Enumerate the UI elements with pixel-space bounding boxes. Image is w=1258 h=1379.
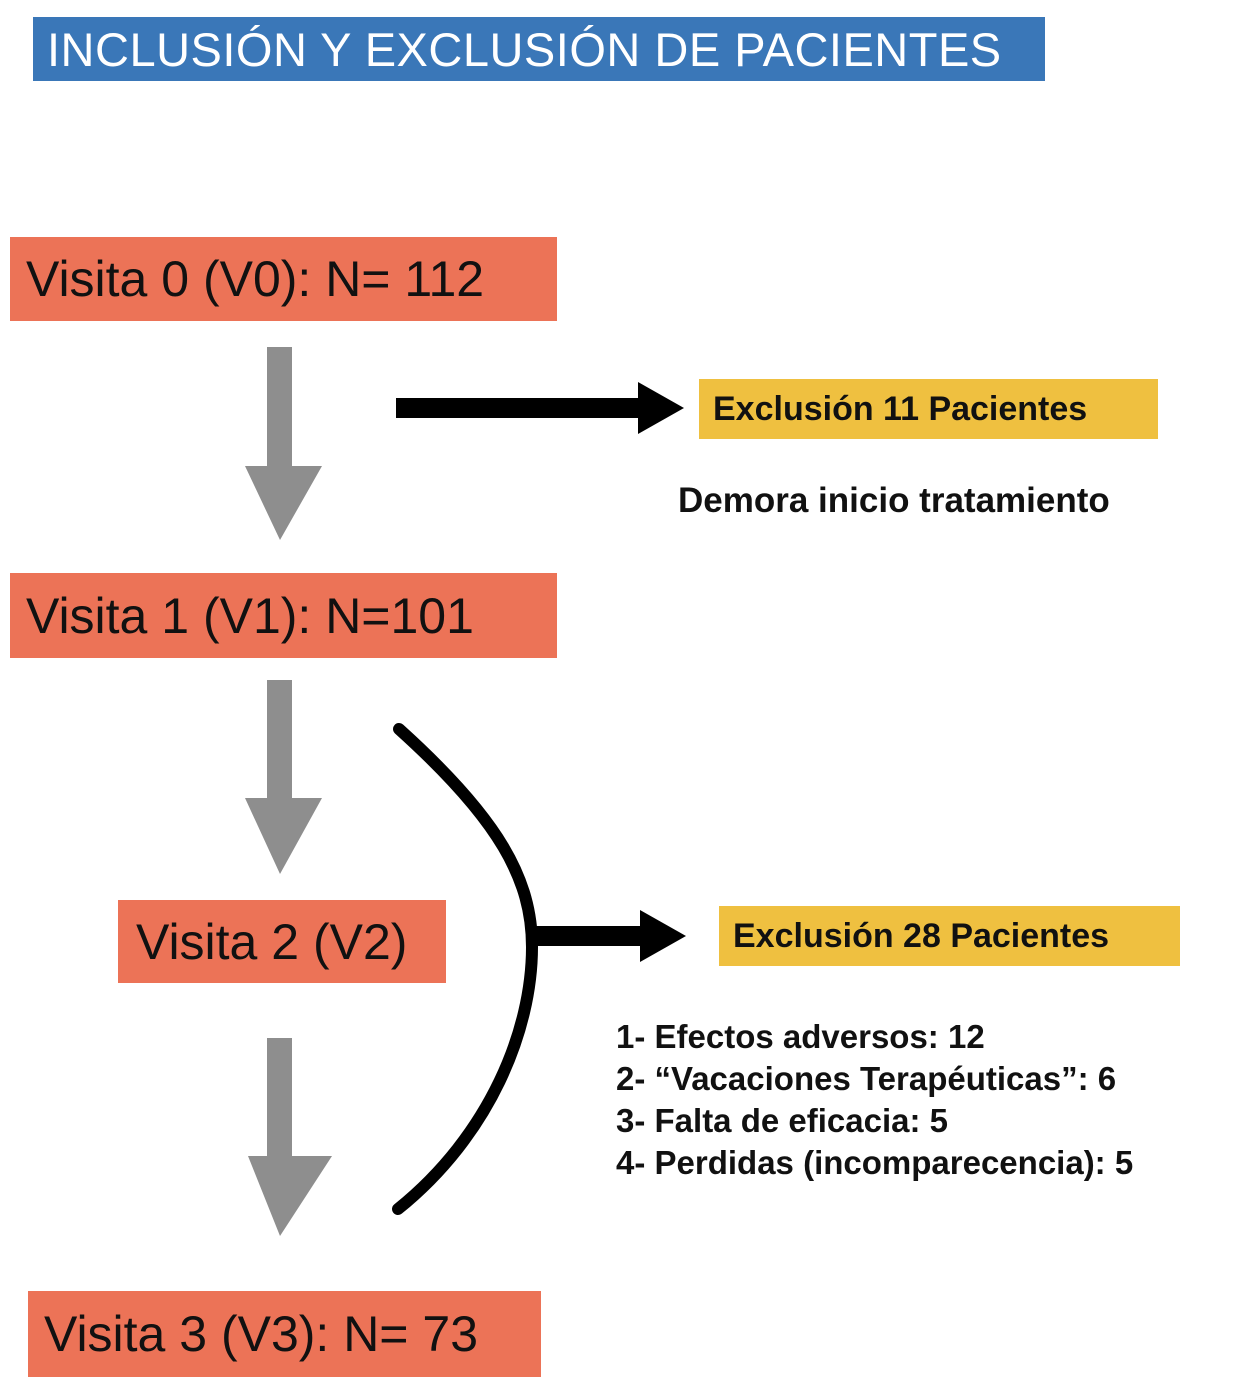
pointer-arrow-exclusion-1: [396, 382, 684, 434]
visit-box-v1: Visita 1 (V1): N=101: [10, 573, 557, 658]
flowchart-canvas: INCLUSIÓN Y EXCLUSIÓN DE PACIENTES Visit…: [0, 0, 1258, 1379]
visit-box-v2: Visita 2 (V2): [118, 900, 446, 983]
flow-arrow-v0-v1: [245, 347, 322, 540]
list-item: 3- Falta de eficacia: 5: [616, 1100, 1256, 1142]
page-title-banner: INCLUSIÓN Y EXCLUSIÓN DE PACIENTES: [33, 17, 1045, 81]
visit-label-v2: Visita 2 (V2): [136, 917, 407, 967]
visit-box-v0: Visita 0 (V0): N= 112: [10, 237, 557, 321]
visit-label-v3: Visita 3 (V3): N= 73: [44, 1309, 478, 1359]
exclusion-reason-list: 1- Efectos adversos: 12 2- “Vacaciones T…: [616, 1016, 1256, 1184]
visit-box-v3: Visita 3 (V3): N= 73: [28, 1291, 541, 1377]
exclusion-label-1: Exclusión 11 Pacientes: [713, 392, 1087, 426]
exclusion-reason-1: Demora inicio tratamiento: [678, 483, 1110, 518]
flow-arrow-v2-v3: [248, 1038, 332, 1236]
list-item: 1- Efectos adversos: 12: [616, 1016, 1256, 1058]
list-item: 4- Perdidas (incomparecencia): 5: [616, 1142, 1256, 1184]
exclusion-label-2: Exclusión 28 Pacientes: [733, 919, 1109, 953]
list-item: 2- “Vacaciones Terapéuticas”: 6: [616, 1058, 1256, 1100]
pointer-arrow-exclusion-2: [535, 910, 686, 962]
flow-arrow-v1-v2: [245, 680, 322, 874]
page-title: INCLUSIÓN Y EXCLUSIÓN DE PACIENTES: [33, 26, 1002, 73]
exclusion-box-1: Exclusión 11 Pacientes: [699, 379, 1158, 439]
visit-label-v1: Visita 1 (V1): N=101: [26, 591, 474, 641]
exclusion-box-2: Exclusión 28 Pacientes: [719, 906, 1180, 966]
visit-label-v0: Visita 0 (V0): N= 112: [26, 254, 484, 304]
